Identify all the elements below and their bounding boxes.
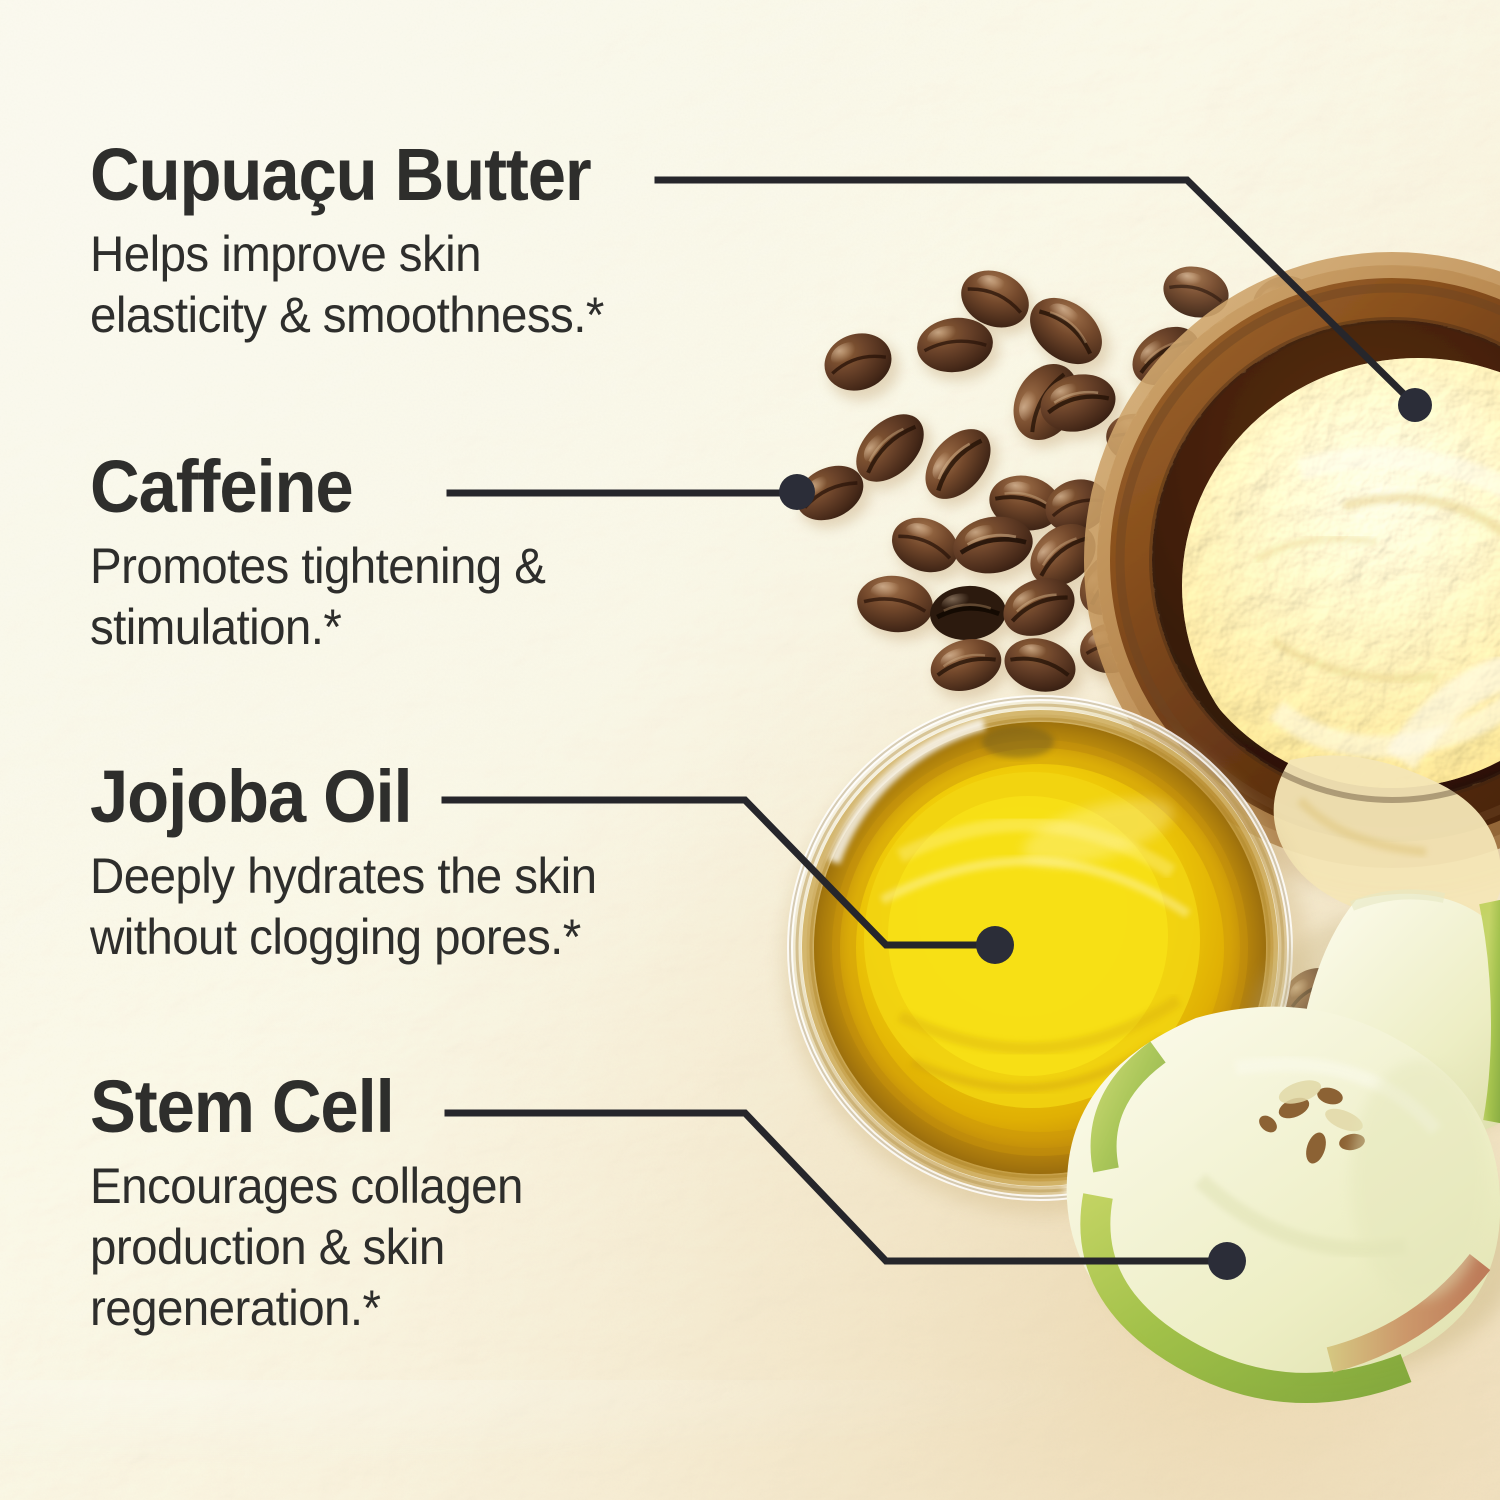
desc-line: Deeply hydrates the skin <box>90 846 596 907</box>
desc-line: Encourages collagen <box>90 1156 523 1217</box>
callout-stem-cell: Stem Cell Encourages collagen production… <box>90 1072 546 1339</box>
desc-line: stimulation.* <box>90 597 545 658</box>
ingredient-name-caffeine: Caffeine <box>90 452 536 522</box>
callout-jojoba-oil: Jojoba Oil Deeply hydrates the skin with… <box>90 762 623 968</box>
ingredient-infographic: Cupuaçu Butter Helps improve skin elasti… <box>0 0 1500 1500</box>
desc-line: Helps improve skin <box>90 224 604 285</box>
ingredient-description-caffeine: Promotes tightening & stimulation.* <box>90 536 545 658</box>
ingredient-description-cupuacu-butter: Helps improve skin elasticity & smoothne… <box>90 224 604 346</box>
ingredient-name-jojoba-oil: Jojoba Oil <box>90 762 586 832</box>
ingredient-description-stem-cell: Encourages collagen production & skin re… <box>90 1156 523 1339</box>
desc-line: Promotes tightening & <box>90 536 545 597</box>
ingredient-description-jojoba-oil: Deeply hydrates the skin without cloggin… <box>90 846 596 968</box>
ingredient-name-cupuacu-butter: Cupuaçu Butter <box>90 140 593 210</box>
desc-line: regeneration.* <box>90 1278 523 1339</box>
desc-line: elasticity & smoothness.* <box>90 285 604 346</box>
callout-cupuacu-butter: Cupuaçu Butter Helps improve skin elasti… <box>90 140 631 346</box>
desc-line: production & skin <box>90 1217 523 1278</box>
ingredient-name-stem-cell: Stem Cell <box>90 1072 514 1142</box>
desc-line: without clogging pores.* <box>90 907 596 968</box>
callout-caffeine: Caffeine Promotes tightening & stimulati… <box>90 452 569 658</box>
